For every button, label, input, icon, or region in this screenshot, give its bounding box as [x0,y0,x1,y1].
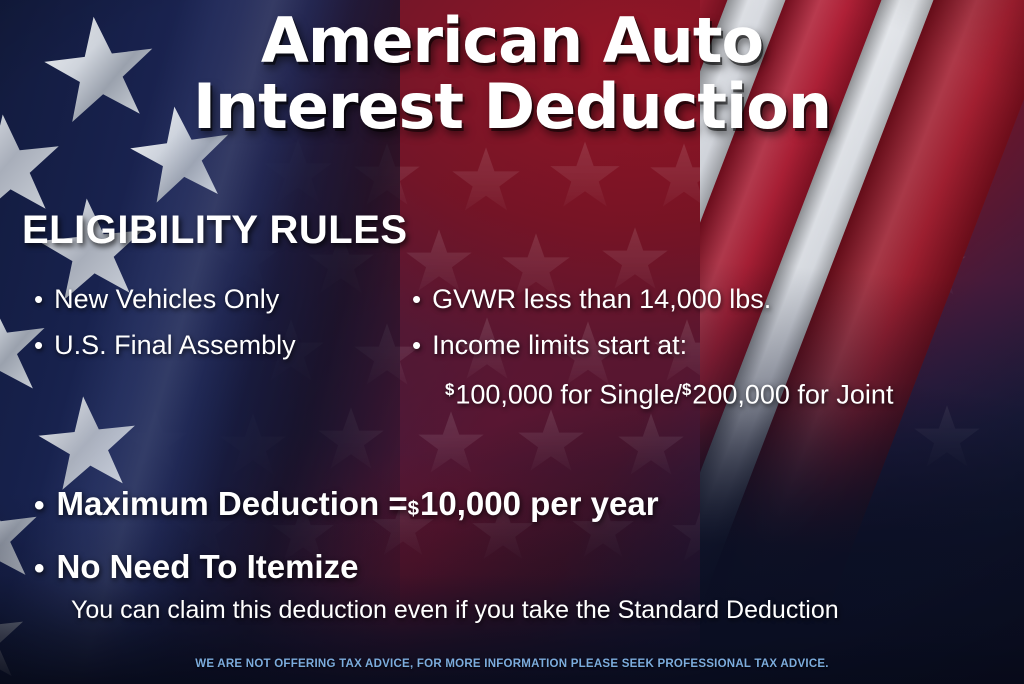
eligibility-left-column: • New Vehicles Only • U.S. Final Assembl… [34,276,412,417]
highlight-amount: 10,000 per year [420,482,659,526]
list-item-label: U.S. Final Assembly [54,322,296,368]
income-single-amount: 100,000 for Single/ [455,380,682,410]
list-item-label: GVWR less than 14,000 lbs. [432,276,771,322]
poster-title: American Auto Interest Deduction [0,8,1024,140]
dollar-sign-max-deduction: $ [408,487,420,531]
eligibility-rules-grid: • New Vehicles Only • U.S. Final Assembl… [34,276,1010,417]
income-joint-amount: 200,000 for Joint [692,380,893,410]
list-item: • Income limits start at: [412,322,1010,368]
bullet-icon: • [412,276,421,322]
highlight-maximum-deduction: • Maximum Deduction = $10,000 per year [34,482,1010,531]
highlight-prefix: No Need To Itemize [57,545,359,589]
list-item-label: New Vehicles Only [54,276,279,322]
bullet-icon: • [34,484,45,528]
dollar-sign-joint: $ [682,380,692,399]
title-line-2: Interest Deduction [0,74,1024,140]
highlight-line: • Maximum Deduction = $10,000 per year [34,482,1010,531]
bullet-icon: • [34,276,43,322]
highlight-prefix: Maximum Deduction = [57,482,408,526]
list-item: • GVWR less than 14,000 lbs. [412,276,1010,322]
list-item: • New Vehicles Only [34,276,412,322]
eligibility-right-column: • GVWR less than 14,000 lbs. • Income li… [412,276,1010,417]
highlight-line: • No Need To Itemize [34,545,1010,591]
disclaimer-text: WE ARE NOT OFFERING TAX ADVICE, FOR MORE… [0,658,1024,670]
section-heading-eligibility-rules: ELIGIBILITY RULES [22,208,408,252]
list-item-label: Income limits start at: [432,322,687,368]
list-item: • U.S. Final Assembly [34,322,412,368]
poster-canvas: American Auto Interest Deduction ELIGIBI… [0,0,1024,684]
income-limit-detail: $100,000 for Single/$200,000 for Joint [412,368,1010,417]
poster-content: American Auto Interest Deduction ELIGIBI… [0,0,1024,684]
dollar-sign-single: $ [445,380,455,399]
bullet-icon: • [412,322,421,368]
highlight-note: You can claim this deduction even if you… [34,591,1010,629]
bullet-icon: • [34,322,43,368]
bullet-icon: • [34,547,45,591]
highlight-no-need-to-itemize: • No Need To Itemize You can claim this … [34,545,1010,629]
title-line-1: American Auto [0,8,1024,74]
